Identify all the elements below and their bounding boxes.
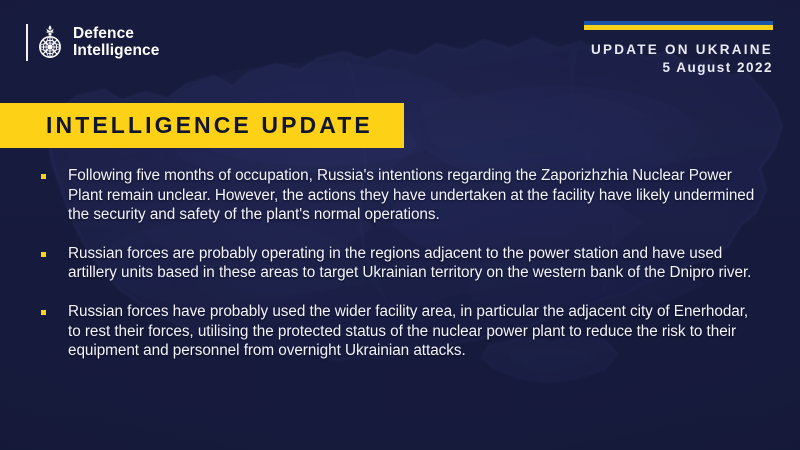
- ukraine-flag-bar-icon: [584, 21, 773, 30]
- bullet-list: Following five months of occupation, Rus…: [39, 166, 763, 361]
- flag-stripe-yellow: [584, 25, 773, 30]
- square-bullet-icon: [41, 310, 46, 315]
- list-item: Russian forces are probably operating in…: [39, 244, 763, 283]
- list-item: Following five months of occupation, Rus…: [39, 166, 763, 225]
- defence-intelligence-logo: Defence Intelligence: [26, 24, 159, 61]
- update-title: UPDATE ON UKRAINE: [584, 42, 773, 57]
- defence-intelligence-crest-icon: [35, 24, 65, 61]
- update-header: UPDATE ON UKRAINE 5 August 2022: [584, 21, 773, 75]
- intelligence-update-banner: INTELLIGENCE UPDATE: [0, 103, 404, 148]
- square-bullet-icon: [41, 174, 46, 179]
- square-bullet-icon: [41, 252, 46, 257]
- logo-line-1: Defence: [73, 26, 159, 42]
- bullet-text: Russian forces have probably used the wi…: [68, 302, 763, 361]
- logo-divider-rule: [26, 24, 28, 61]
- logo-wordmark: Defence Intelligence: [73, 26, 159, 59]
- logo-line-2: Intelligence: [73, 43, 159, 59]
- list-item: Russian forces have probably used the wi…: [39, 302, 763, 361]
- banner-label: INTELLIGENCE UPDATE: [0, 112, 373, 139]
- update-date: 5 August 2022: [584, 60, 773, 75]
- bullet-text: Following five months of occupation, Rus…: [68, 166, 763, 225]
- bullet-text: Russian forces are probably operating in…: [68, 244, 763, 283]
- intelligence-update-slide: Defence Intelligence UPDATE ON UKRAINE 5…: [0, 0, 800, 450]
